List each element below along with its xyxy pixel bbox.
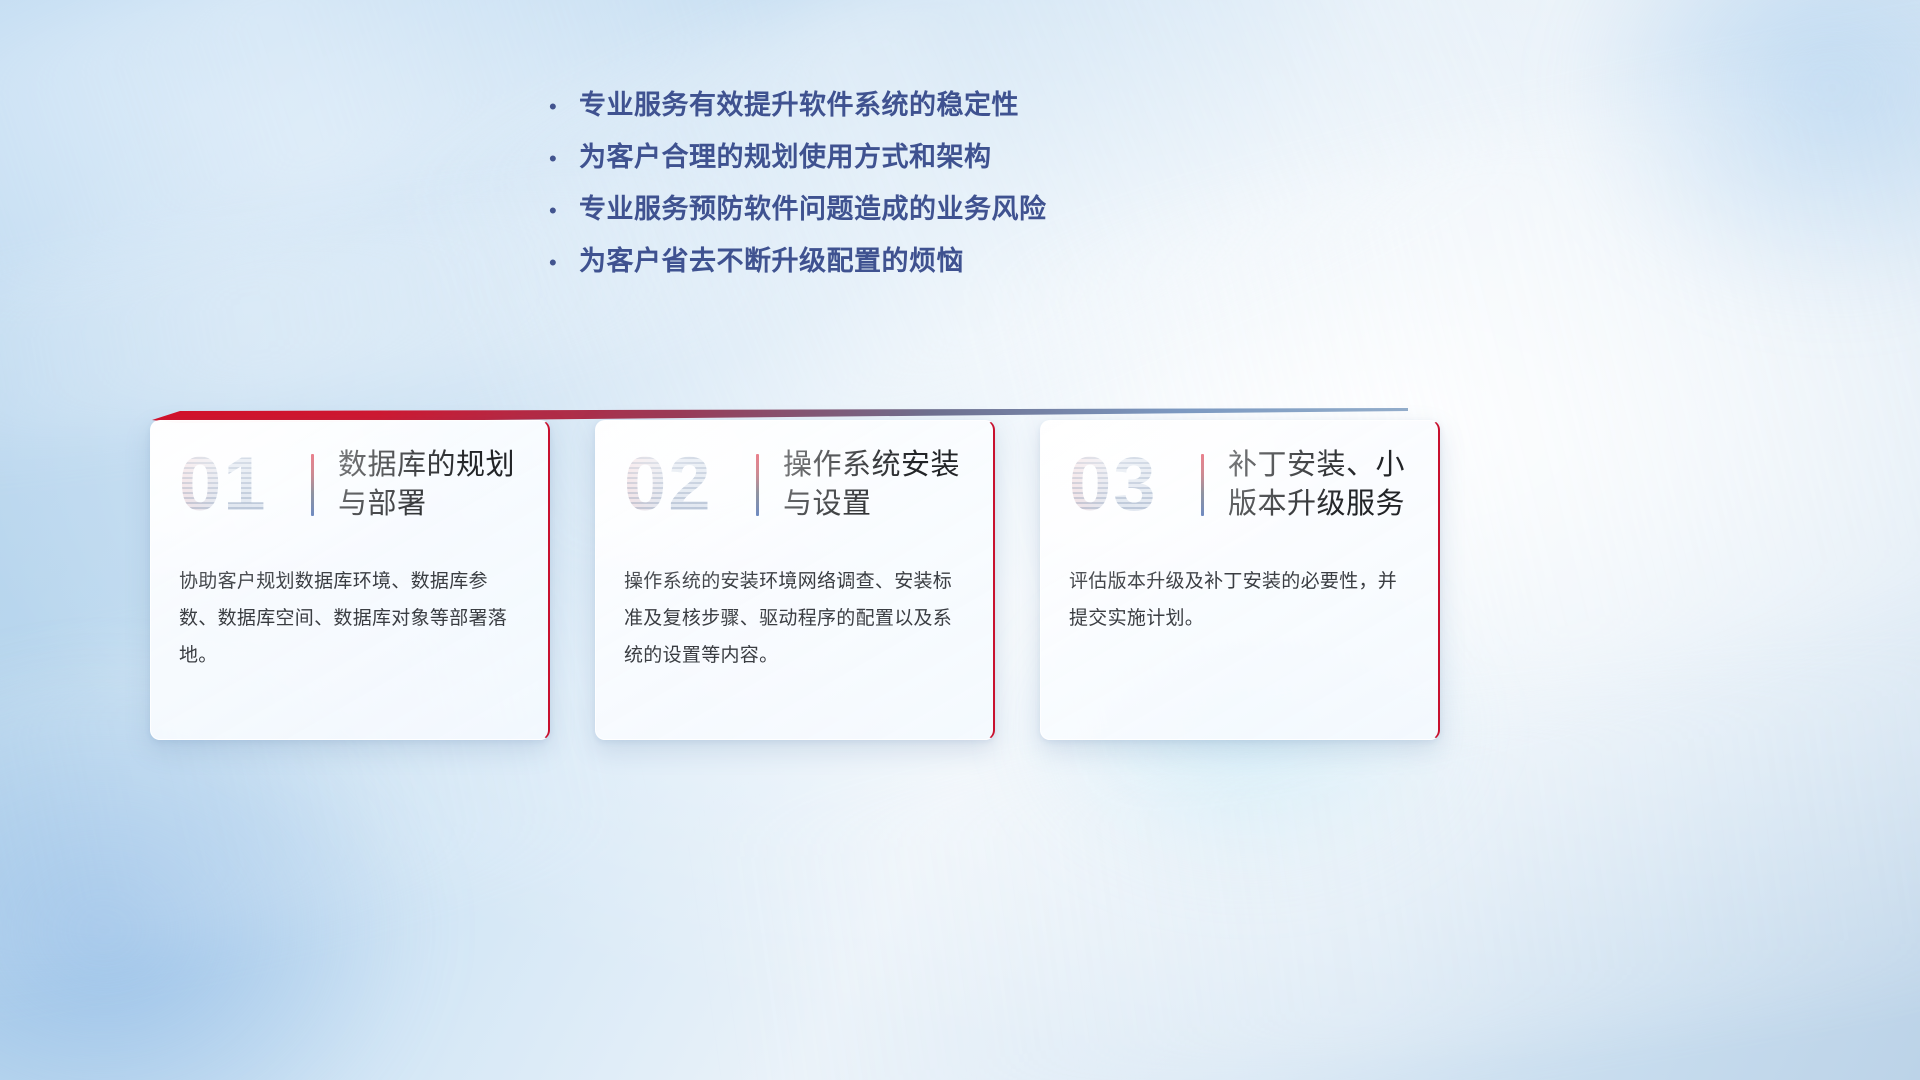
card-header: 03 补丁安装、小 版本升级服务 [1041, 421, 1438, 549]
card-description: 协助客户规划数据库环境、数据库参数、数据库空间、数据库对象等部署落地。 [151, 549, 548, 674]
list-item: • 为客户省去不断升级配置的烦恼 [545, 244, 1445, 296]
card-title: 补丁安装、小 版本升级服务 [1228, 446, 1405, 524]
bullet-text: 为客户省去不断升级配置的烦恼 [579, 244, 964, 279]
card-title-line2: 与设置 [783, 488, 872, 520]
card-title-line1: 补丁安装、小 [1228, 449, 1405, 481]
card-description: 操作系统的安装环境网络调查、安装标准及复核步骤、驱动程序的配置以及系统的设置等内… [596, 549, 993, 674]
card-title-line1: 操作系统安装 [783, 449, 960, 481]
card-title: 操作系统安装 与设置 [783, 446, 960, 524]
card-header: 02 操作系统安装 与设置 [596, 421, 993, 549]
card-description: 评估版本升级及补丁安装的必要性，并提交实施计划。 [1041, 549, 1438, 637]
bullet-dot-icon: • [545, 148, 579, 170]
bullet-text: 为客户合理的规划使用方式和架构 [579, 140, 992, 175]
bullet-text: 专业服务有效提升软件系统的稳定性 [579, 88, 1019, 123]
card-number: 02 [624, 447, 756, 523]
bullet-dot-icon: • [545, 96, 579, 118]
card-accent-bar-icon [1201, 454, 1204, 516]
bullet-text: 专业服务预防软件问题造成的业务风险 [579, 192, 1047, 227]
card-number: 03 [1069, 447, 1201, 523]
card-title-line2: 与部署 [338, 488, 427, 520]
bullet-dot-icon: • [545, 252, 579, 274]
list-item: • 专业服务有效提升软件系统的稳定性 [545, 88, 1445, 140]
card-title-line2: 版本升级服务 [1228, 488, 1405, 520]
card-accent-bar-icon [756, 454, 759, 516]
service-card[interactable]: 02 操作系统安装 与设置 操作系统的安装环境网络调查、安装标准及复核步骤、驱动… [595, 420, 995, 740]
card-title: 数据库的规划 与部署 [338, 446, 515, 524]
benefits-bullet-list: • 专业服务有效提升软件系统的稳定性 • 为客户合理的规划使用方式和架构 • 专… [545, 88, 1445, 296]
card-header: 01 数据库的规划 与部署 [151, 421, 548, 549]
list-item: • 为客户合理的规划使用方式和架构 [545, 140, 1445, 192]
list-item: • 专业服务预防软件问题造成的业务风险 [545, 192, 1445, 244]
bullet-dot-icon: • [545, 200, 579, 222]
service-card-list: 01 数据库的规划 与部署 协助客户规划数据库环境、数据库参数、数据库空间、数据… [150, 420, 1770, 750]
service-card[interactable]: 01 数据库的规划 与部署 协助客户规划数据库环境、数据库参数、数据库空间、数据… [150, 420, 550, 740]
service-card[interactable]: 03 补丁安装、小 版本升级服务 评估版本升级及补丁安装的必要性，并提交实施计划… [1040, 420, 1440, 740]
card-number: 01 [179, 447, 311, 523]
card-title-line1: 数据库的规划 [338, 449, 515, 481]
card-accent-bar-icon [311, 454, 314, 516]
